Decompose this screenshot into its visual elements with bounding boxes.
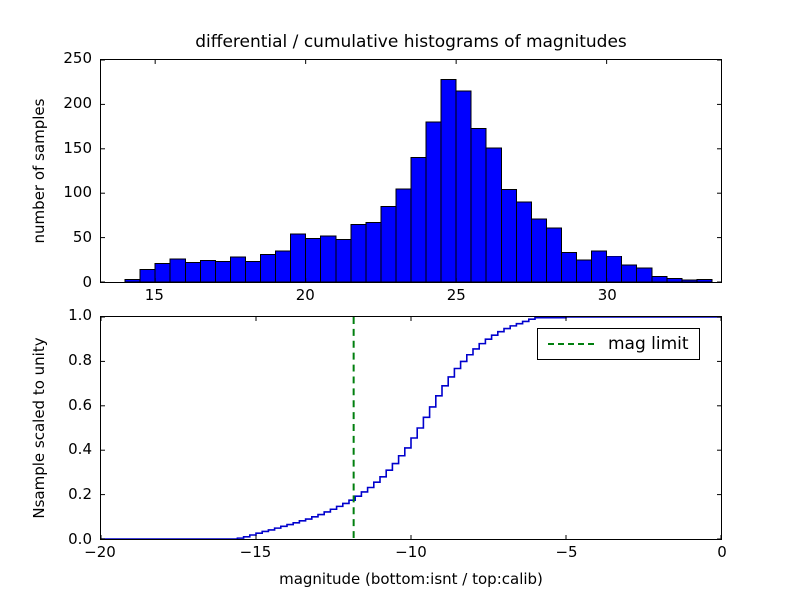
bottom-xtick-label: −10	[381, 545, 441, 560]
bottom-ytick-label: 1.0	[36, 308, 92, 323]
top-xtick-label: 25	[426, 288, 486, 303]
x-axis-label: magnitude (bottom:isnt / top:calib)	[100, 570, 722, 588]
bottom-ytick-label: 0.8	[36, 353, 92, 368]
bottom-ytick-label: 0.0	[36, 532, 92, 547]
differential-histogram-axes	[100, 59, 722, 283]
top-ytick-label: 200	[36, 96, 92, 111]
top-ytick-label: 150	[36, 141, 92, 156]
legend-label-mag-limit: mag limit	[608, 335, 689, 353]
bottom-ytick-label: 0.2	[36, 487, 92, 502]
top-xtick-label: 15	[124, 288, 184, 303]
bottom-xtick-label: 0	[692, 545, 752, 560]
top-xtick-label: 20	[275, 288, 335, 303]
figure: differential / cumulative histograms of …	[0, 0, 800, 600]
bottom-axis-y-label: Nsample scaled to unity	[30, 316, 48, 540]
top-ytick-label: 250	[36, 51, 92, 66]
top-axis-y-label: number of samples	[30, 59, 48, 283]
top-xtick-label: 30	[577, 288, 637, 303]
bottom-ytick-label: 0.6	[36, 398, 92, 413]
legend: mag limit	[537, 328, 700, 360]
differential-histogram-plot	[101, 60, 721, 282]
top-ytick-label: 0	[36, 275, 92, 290]
top-ytick-label: 50	[36, 230, 92, 245]
bottom-ytick-label: 0.4	[36, 442, 92, 457]
bottom-xtick-label: −5	[537, 545, 597, 560]
bottom-xtick-label: −15	[226, 545, 286, 560]
figure-title: differential / cumulative histograms of …	[100, 30, 722, 54]
mag-limit-line-swatch	[548, 343, 594, 345]
top-ytick-label: 100	[36, 185, 92, 200]
